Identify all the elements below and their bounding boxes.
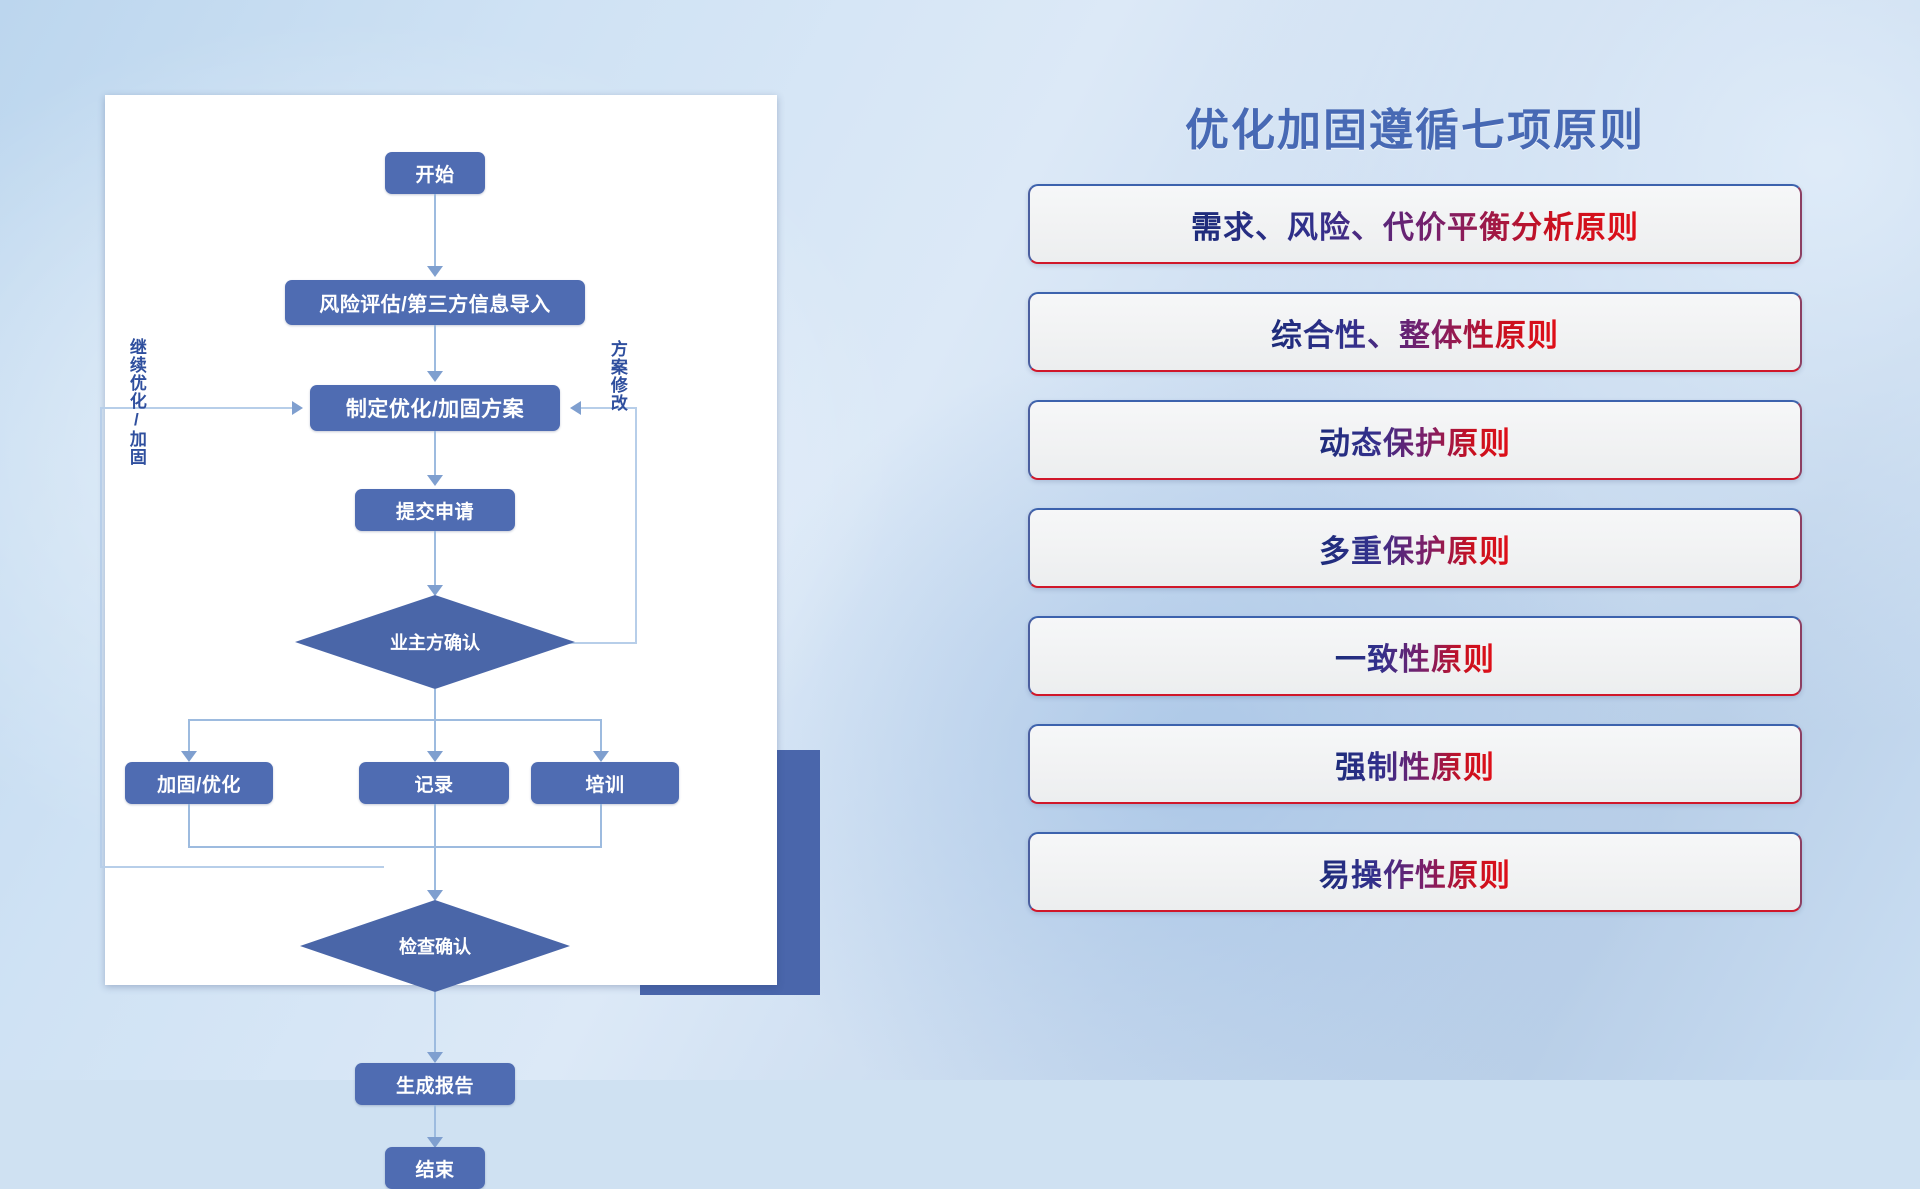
flow-node-label: 开始: [415, 160, 454, 187]
flow-node-label: 记录: [414, 770, 453, 797]
flow-node-label: 生成报告: [396, 1071, 474, 1098]
connector-plan-to-submit: [434, 431, 436, 481]
flow-decision-check-confirm[interactable]: 检查确认: [300, 900, 570, 992]
arrow-head-down: [593, 751, 609, 762]
flow-node-report[interactable]: 生成报告: [355, 1063, 515, 1105]
flow-node-label: 制定优化/加固方案: [346, 393, 524, 423]
flow-node-label: 加固/优化: [157, 770, 241, 797]
principle-label: 强制性原则: [1335, 742, 1495, 787]
arrow-head-left: [570, 401, 581, 415]
merge-branch-right: [600, 804, 602, 848]
loop-label-continue-optimize: 继续优化/加固: [127, 338, 145, 466]
flow-node-record[interactable]: 记录: [359, 762, 509, 804]
connector-merge-to-check: [434, 804, 436, 896]
principle-label: 综合性、整体性原则: [1271, 310, 1559, 355]
flowchart-diagram: 开始 风险评估/第三方信息导入 制定优化/加固方案 继续优化/加固: [105, 95, 777, 985]
principle-item[interactable]: 多重保护原则: [1028, 508, 1802, 588]
loop-left-bottom: [100, 866, 384, 868]
flow-node-label: 提交申请: [396, 497, 474, 524]
principle-label: 易操作性原则: [1319, 850, 1511, 895]
principle-item[interactable]: 强制性原则: [1028, 724, 1802, 804]
connector-submit-to-owner: [434, 531, 436, 591]
connector-check-to-report: [434, 992, 436, 1058]
merge-branch-left: [188, 804, 190, 848]
arrow-head-down: [427, 890, 443, 901]
flow-node-reinforce[interactable]: 加固/优化: [125, 762, 273, 804]
principle-label: 多重保护原则: [1319, 526, 1511, 571]
arrow-head-down: [181, 751, 197, 762]
flow-node-assessment[interactable]: 风险评估/第三方信息导入: [285, 280, 585, 325]
flow-node-label: 业主方确认: [390, 629, 480, 655]
flow-node-training[interactable]: 培训: [531, 762, 679, 804]
principles-panel: 优化加固遵循七项原则 需求、风险、代价平衡分析原则 综合性、整体性原则 动态保护…: [1010, 80, 1820, 1020]
flow-node-label: 检查确认: [399, 933, 471, 959]
flow-node-label: 结束: [415, 1155, 454, 1182]
split-bus-top: [188, 719, 602, 721]
principle-item[interactable]: 综合性、整体性原则: [1028, 292, 1802, 372]
arrow-head-down: [427, 371, 443, 382]
flow-decision-owner-confirm[interactable]: 业主方确认: [295, 595, 575, 689]
flow-node-submit[interactable]: 提交申请: [355, 489, 515, 531]
flowchart-card: 开始 风险评估/第三方信息导入 制定优化/加固方案 继续优化/加固: [105, 95, 777, 985]
arrow-head-down: [427, 1052, 443, 1063]
principle-item[interactable]: 动态保护原则: [1028, 400, 1802, 480]
connector-start-to-assess: [434, 194, 436, 272]
principle-item[interactable]: 一致性原则: [1028, 616, 1802, 696]
flow-node-plan[interactable]: 制定优化/加固方案: [310, 385, 560, 431]
flow-node-label: 培训: [585, 770, 624, 797]
arrow-head-right: [292, 401, 303, 415]
arrow-head-down: [427, 585, 443, 596]
flow-node-label: 风险评估/第三方信息导入: [319, 288, 551, 317]
flow-node-end[interactable]: 结束: [385, 1147, 485, 1189]
loop-right-vertical: [635, 407, 637, 644]
connector-owner-down: [434, 689, 436, 720]
principle-label: 一致性原则: [1335, 634, 1495, 679]
merge-bus-bottom: [188, 846, 602, 848]
principle-item[interactable]: 需求、风险、代价平衡分析原则: [1028, 184, 1802, 264]
loop-left-vertical: [100, 407, 102, 868]
connector-assess-to-plan: [434, 325, 436, 377]
arrow-head-down: [427, 266, 443, 277]
panel-title: 优化加固遵循七项原则: [1010, 94, 1820, 158]
flow-node-start[interactable]: 开始: [385, 152, 485, 194]
arrow-head-down: [427, 475, 443, 486]
principle-item[interactable]: 易操作性原则: [1028, 832, 1802, 912]
principle-label: 动态保护原则: [1319, 418, 1511, 463]
loop-label-plan-revision: 方案修改: [608, 340, 626, 412]
slide-canvas: 开始 风险评估/第三方信息导入 制定优化/加固方案 继续优化/加固: [0, 0, 1920, 1080]
arrow-head-down: [427, 751, 443, 762]
principle-label: 需求、风险、代价平衡分析原则: [1191, 202, 1639, 247]
